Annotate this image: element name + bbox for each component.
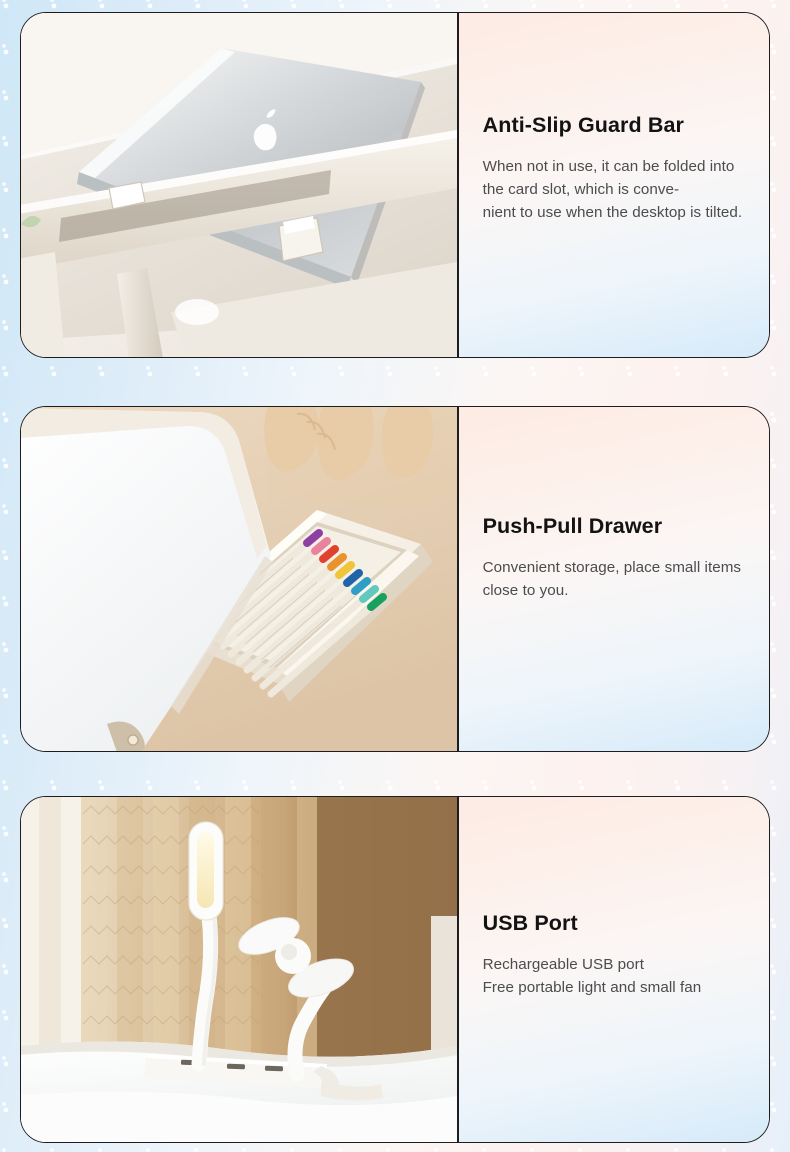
feature-card-anti-slip-guard-bar: Anti-Slip Guard Bar When not in use, it … <box>20 12 770 358</box>
feature-title: Push-Pull Drawer <box>483 514 747 539</box>
feature-image-push-pull-drawer <box>21 407 457 751</box>
feature-title: Anti-Slip Guard Bar <box>483 113 747 138</box>
feature-card-push-pull-drawer: Push-Pull Drawer Convenient storage, pla… <box>20 406 770 752</box>
feature-image-anti-slip-guard-bar <box>21 13 457 357</box>
feature-card-usb-port: USB Port Rechargeable USB port Free port… <box>20 796 770 1143</box>
feature-description: Rechargeable USB port Free portable ligh… <box>483 953 747 999</box>
feature-text-anti-slip-guard-bar: Anti-Slip Guard Bar When not in use, it … <box>459 13 769 357</box>
feature-image-usb-port <box>21 797 457 1142</box>
feature-title: USB Port <box>483 911 747 936</box>
feature-text-usb-port: USB Port Rechargeable USB port Free port… <box>459 797 769 1142</box>
feature-description: Convenient storage, place small items cl… <box>483 556 747 602</box>
feature-description: When not in use, it can be folded into t… <box>483 155 747 224</box>
product-feature-page: Anti-Slip Guard Bar When not in use, it … <box>0 0 790 1152</box>
feature-text-push-pull-drawer: Push-Pull Drawer Convenient storage, pla… <box>459 407 769 751</box>
